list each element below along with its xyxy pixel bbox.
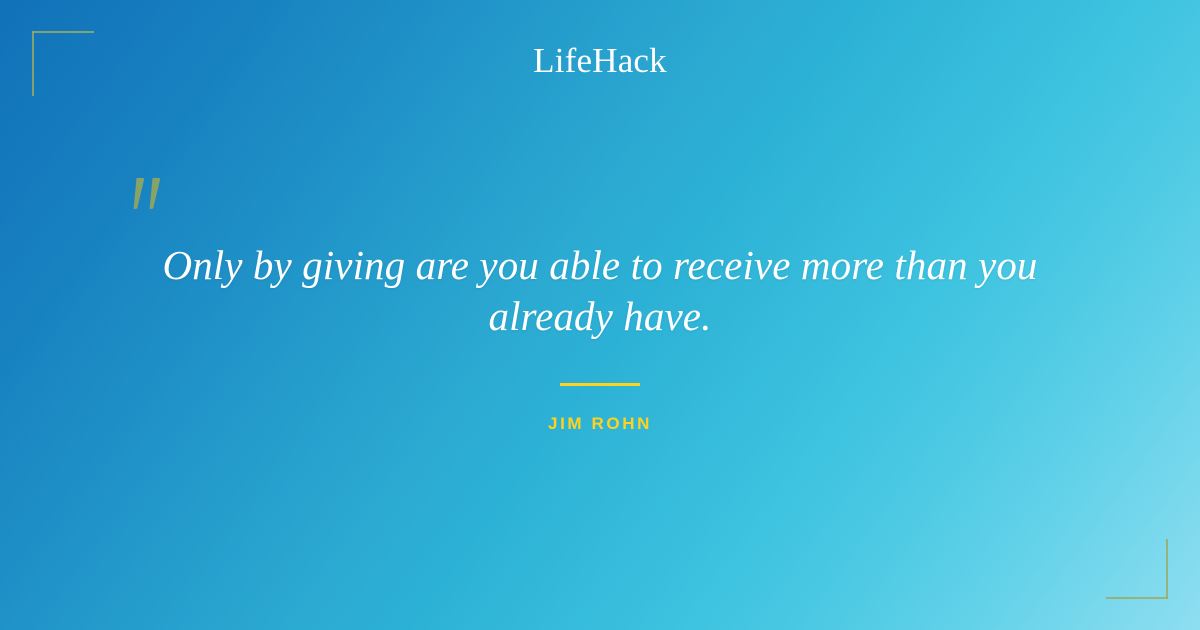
brand-logo: LifeHack xyxy=(0,40,1200,82)
quote-stroke-left xyxy=(131,178,145,209)
quote-body-text: Only by giving are you able to receive m… xyxy=(120,240,1080,342)
author-divider xyxy=(560,383,640,386)
corner-bracket-bottom-right-icon xyxy=(1106,539,1168,599)
quote-card: LifeHack Only by giving are you able to … xyxy=(0,0,1200,630)
bracket-horizontal-line xyxy=(1106,597,1168,599)
quote-stroke-right xyxy=(147,178,161,209)
bracket-vertical-line xyxy=(1166,539,1168,599)
double-quote-icon xyxy=(133,178,167,214)
bracket-horizontal-line xyxy=(32,31,94,33)
quote-author: JIM ROHN xyxy=(0,414,1200,434)
